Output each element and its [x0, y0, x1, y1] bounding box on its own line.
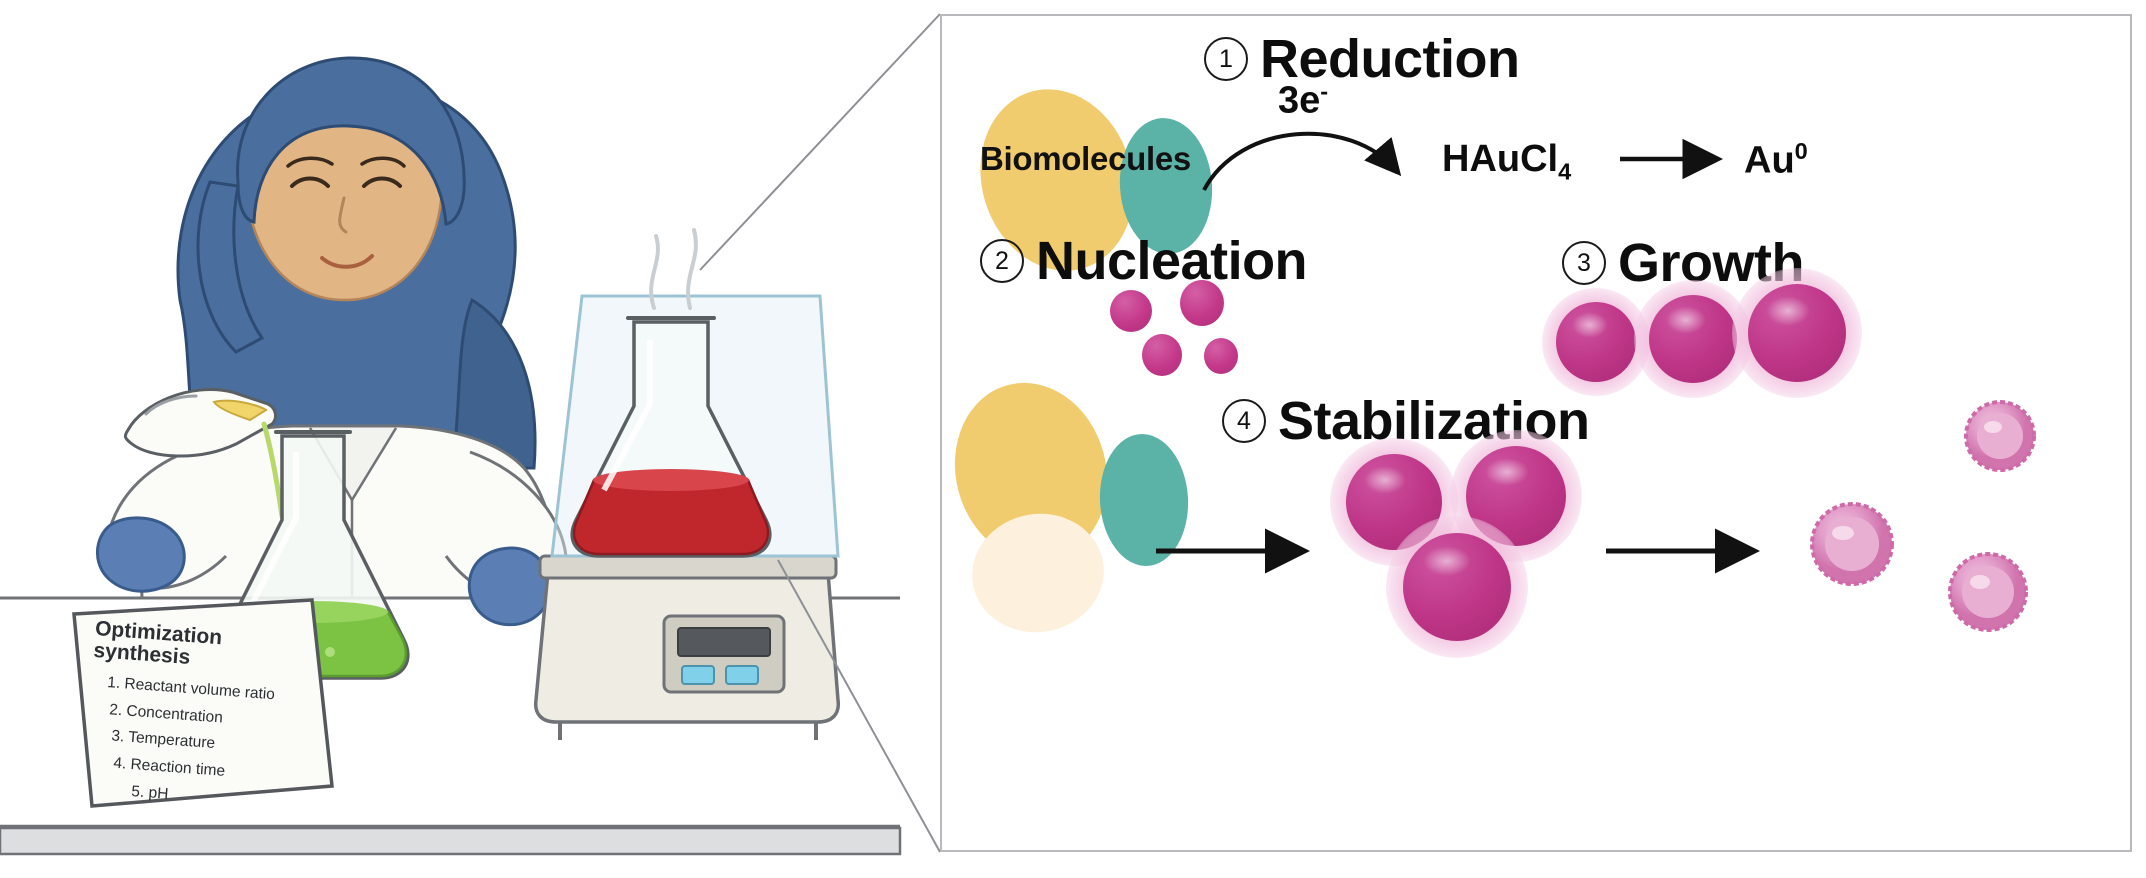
- step-heading-reduction: 1 Reduction: [1204, 32, 1520, 86]
- product-superscript: 0: [1795, 138, 1808, 164]
- nanoparticle-gloss: [1485, 458, 1529, 486]
- nanoparticle-gloss: [1666, 306, 1706, 334]
- stabilization-arrow-2: [1604, 540, 1764, 562]
- figure-root: Optimization synthesis 1. Reactant volum…: [0, 0, 2146, 878]
- nanoparticle-gloss: [1572, 312, 1608, 338]
- nanoparticle-seed: [1142, 334, 1182, 376]
- note-card-text: Optimization synthesis 1. Reactant volum…: [82, 618, 335, 819]
- nanoparticle-seed: [1204, 338, 1238, 374]
- step-number-3: 3: [1562, 241, 1606, 285]
- precursor-subscript: 4: [1558, 159, 1571, 185]
- electron-transfer-arrow: [1200, 112, 1430, 198]
- step-number-2: 2: [980, 239, 1024, 283]
- step-heading-nucleation: 2 Nucleation: [980, 234, 1307, 288]
- capped-nanoparticle: [1812, 504, 1892, 584]
- biomolecules-label: Biomolecules: [980, 140, 1191, 178]
- stabilization-arrow-1: [1154, 540, 1314, 562]
- nanoparticle-gloss: [1423, 546, 1471, 576]
- nanoparticle-seed: [1110, 290, 1152, 332]
- reduction-yield-arrow: [1618, 148, 1728, 170]
- capped-nanoparticle: [1950, 554, 2026, 630]
- step-number-1: 1: [1204, 37, 1248, 81]
- green-synthesis-scene: Optimization synthesis 1. Reactant volum…: [0, 0, 900, 878]
- precursor-text: HAuCl: [1442, 138, 1558, 180]
- step-number-4: 4: [1222, 399, 1266, 443]
- product-text: Au: [1744, 140, 1795, 182]
- capped-nanoparticle-cluster: [1772, 376, 2102, 676]
- nanoparticle-gloss: [1766, 296, 1810, 326]
- nanoparticle-seed: [1180, 280, 1224, 326]
- nanoparticle-formation-mechanism-panel: 1 Reduction Biomolecules 3e- HAuCl4: [940, 14, 2132, 852]
- nanoparticle-gloss: [1364, 466, 1406, 494]
- step-title-nucleation: Nucleation: [1036, 234, 1307, 288]
- electron-charge-sign: -: [1320, 78, 1328, 104]
- product-formula: Au0: [1744, 140, 1808, 180]
- precursor-formula: HAuCl4: [1442, 140, 1571, 184]
- capped-nanoparticle: [1966, 402, 2034, 470]
